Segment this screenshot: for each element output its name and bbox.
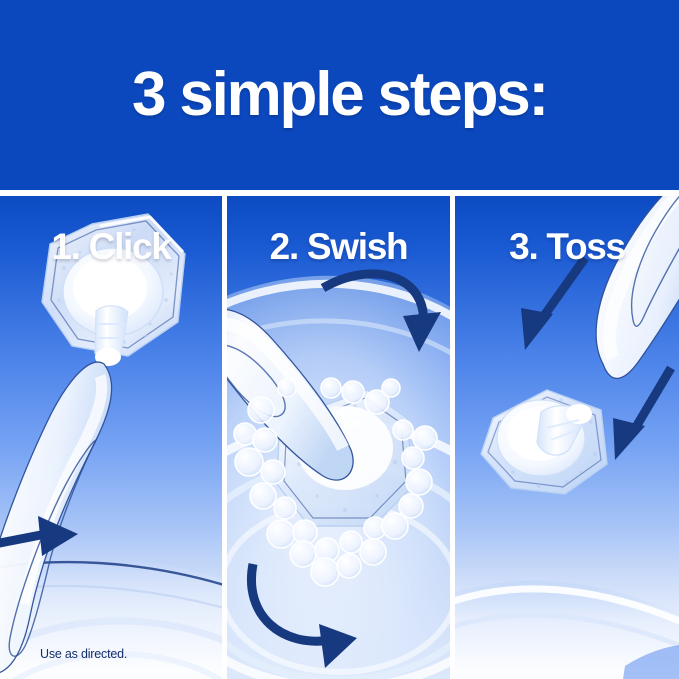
- step-panel-toss: 3. Toss: [455, 196, 679, 679]
- page-title: 3 simple steps:: [0, 58, 679, 132]
- steps-strip: 1. Click Use as directed.: [0, 196, 679, 679]
- arrow-down-left: [521, 258, 585, 350]
- step-title-swish: 2. Swish: [227, 226, 450, 268]
- disclaimer-text: Use as directed.: [40, 647, 127, 661]
- header-band: 3 simple steps:: [0, 0, 679, 190]
- toss-illustration: [455, 196, 679, 679]
- step-panel-click: 1. Click Use as directed.: [0, 196, 222, 679]
- counter-surface: [455, 581, 679, 679]
- tablet-hexagon: [481, 390, 607, 494]
- click-illustration: [0, 196, 222, 679]
- step-title-toss: 3. Toss: [455, 226, 679, 268]
- arrow-down-right: [613, 368, 671, 460]
- swish-illustration: [227, 196, 450, 679]
- step-title-click: 1. Click: [0, 226, 222, 268]
- step-panel-swish: 2. Swish: [227, 196, 450, 679]
- toothbrush-head: [596, 196, 679, 378]
- poster: 3 simple steps:: [0, 0, 679, 679]
